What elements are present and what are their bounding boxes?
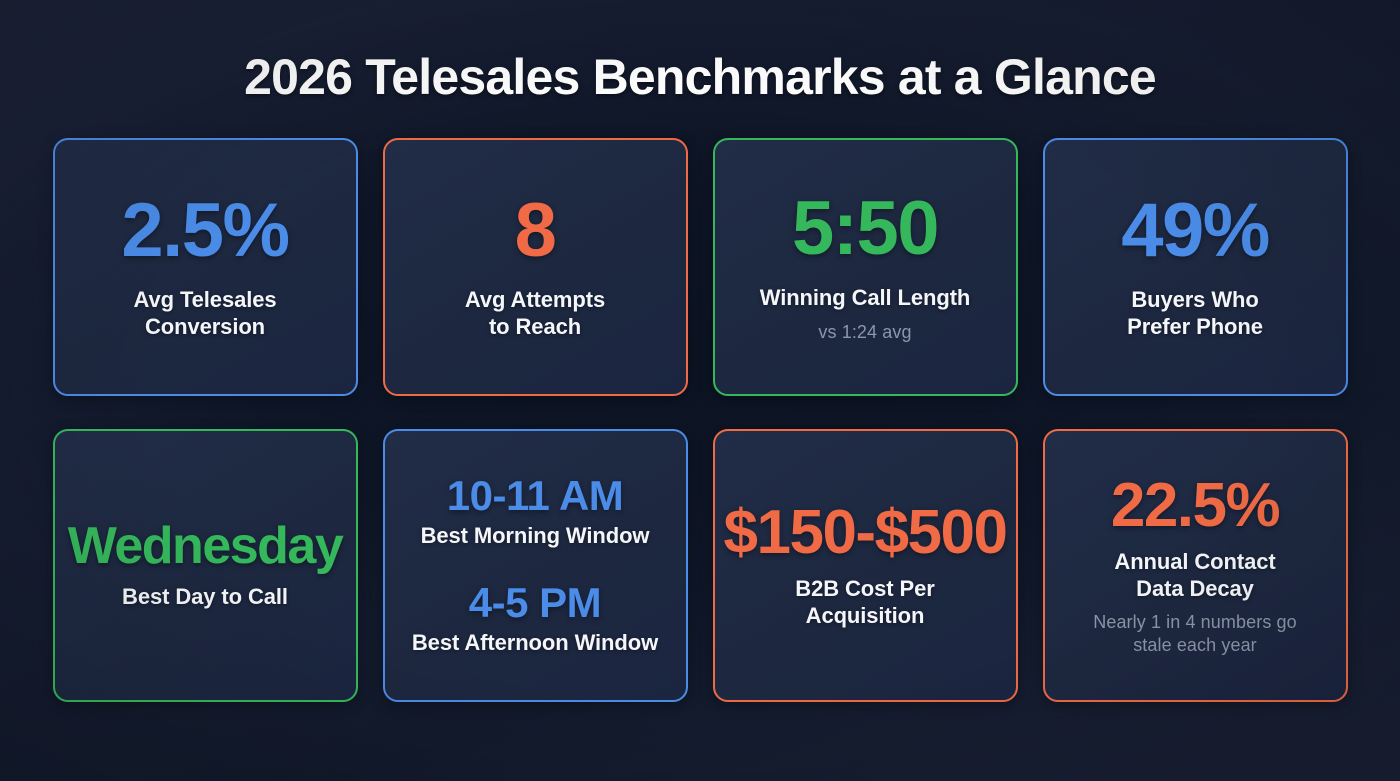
stat-card-best-call-windows: 10-11 AM Best Morning Window 4-5 PM Best… bbox=[383, 429, 688, 702]
stat-value-morning: 10-11 AM bbox=[447, 475, 624, 517]
stat-value: 5:50 bbox=[792, 191, 938, 267]
page-title: 2026 Telesales Benchmarks at a Glance bbox=[244, 50, 1156, 104]
stat-card-winning-call-length: 5:50 Winning Call Length vs 1:24 avg bbox=[713, 138, 1018, 396]
infographic-root: 2026 Telesales Benchmarks at a Glance 2.… bbox=[0, 0, 1400, 781]
stat-subcaption: vs 1:24 avg bbox=[818, 321, 911, 344]
stat-card-b2b-cost-per-acquisition: $150-$500 B2B Cost Per Acquisition bbox=[713, 429, 1018, 702]
afternoon-window-block: 4-5 PM Best Afternoon Window bbox=[412, 582, 658, 657]
stat-card-grid: 2.5% Avg Telesales Conversion 8 Avg Atte… bbox=[50, 138, 1350, 702]
stat-label: Best Day to Call bbox=[122, 584, 288, 611]
stat-value: Wednesday bbox=[68, 520, 343, 572]
stat-value: 2.5% bbox=[121, 193, 288, 269]
stat-label: Avg Attempts to Reach bbox=[465, 287, 605, 341]
stat-label: Avg Telesales Conversion bbox=[134, 287, 277, 341]
stat-value: 8 bbox=[515, 193, 556, 269]
stat-label: B2B Cost Per Acquisition bbox=[795, 576, 934, 630]
morning-window-block: 10-11 AM Best Morning Window bbox=[421, 475, 650, 550]
stat-value: 22.5% bbox=[1111, 475, 1279, 537]
stat-label-afternoon: Best Afternoon Window bbox=[412, 630, 658, 657]
stat-card-avg-attempts-to-reach: 8 Avg Attempts to Reach bbox=[383, 138, 688, 396]
stat-value: $150-$500 bbox=[724, 502, 1007, 564]
stat-label: Winning Call Length bbox=[760, 285, 971, 312]
stat-card-buyers-who-prefer-phone: 49% Buyers Who Prefer Phone bbox=[1043, 138, 1348, 396]
stat-card-avg-telesales-conversion: 2.5% Avg Telesales Conversion bbox=[53, 138, 358, 396]
stat-value: 49% bbox=[1121, 193, 1269, 269]
stat-label: Buyers Who Prefer Phone bbox=[1127, 287, 1263, 341]
stat-label-morning: Best Morning Window bbox=[421, 523, 650, 550]
stat-value-afternoon: 4-5 PM bbox=[469, 582, 601, 624]
stat-card-best-day-to-call: Wednesday Best Day to Call bbox=[53, 429, 358, 702]
stat-card-annual-contact-data-decay: 22.5% Annual Contact Data Decay Nearly 1… bbox=[1043, 429, 1348, 702]
stat-label: Annual Contact Data Decay bbox=[1114, 549, 1275, 603]
stat-subcaption: Nearly 1 in 4 numbers go stale each year bbox=[1093, 611, 1297, 656]
